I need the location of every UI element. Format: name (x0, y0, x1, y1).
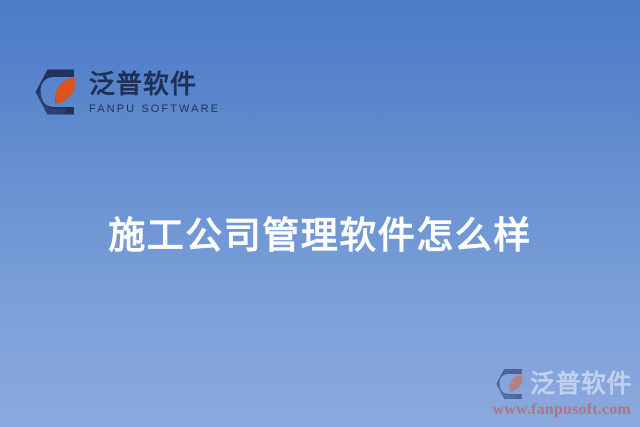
brand-logo[interactable]: 泛普软件 FANPU SOFTWARE (34, 68, 220, 116)
watermark-brand-name: 泛普软件 (530, 372, 632, 397)
page-title: 施工公司管理软件怎么样 (0, 213, 640, 259)
watermark-logo: 泛普软件 (495, 368, 632, 400)
watermark: 泛普软件 www.fanpusoft.com (492, 368, 632, 418)
brand-wordmark: 泛普软件 FANPU SOFTWARE (89, 69, 220, 114)
fanpu-hexagon-swoosh-logo-icon (34, 68, 80, 116)
promo-banner: 泛普软件 FANPU SOFTWARE 施工公司管理软件怎么样 泛普软件 www… (0, 0, 640, 427)
fanpu-hexagon-swoosh-logo-icon (495, 368, 526, 400)
brand-subtitle: FANPU SOFTWARE (89, 104, 220, 115)
watermark-url: www.fanpusoft.com (492, 402, 631, 418)
brand-name: 泛普软件 (89, 71, 220, 98)
